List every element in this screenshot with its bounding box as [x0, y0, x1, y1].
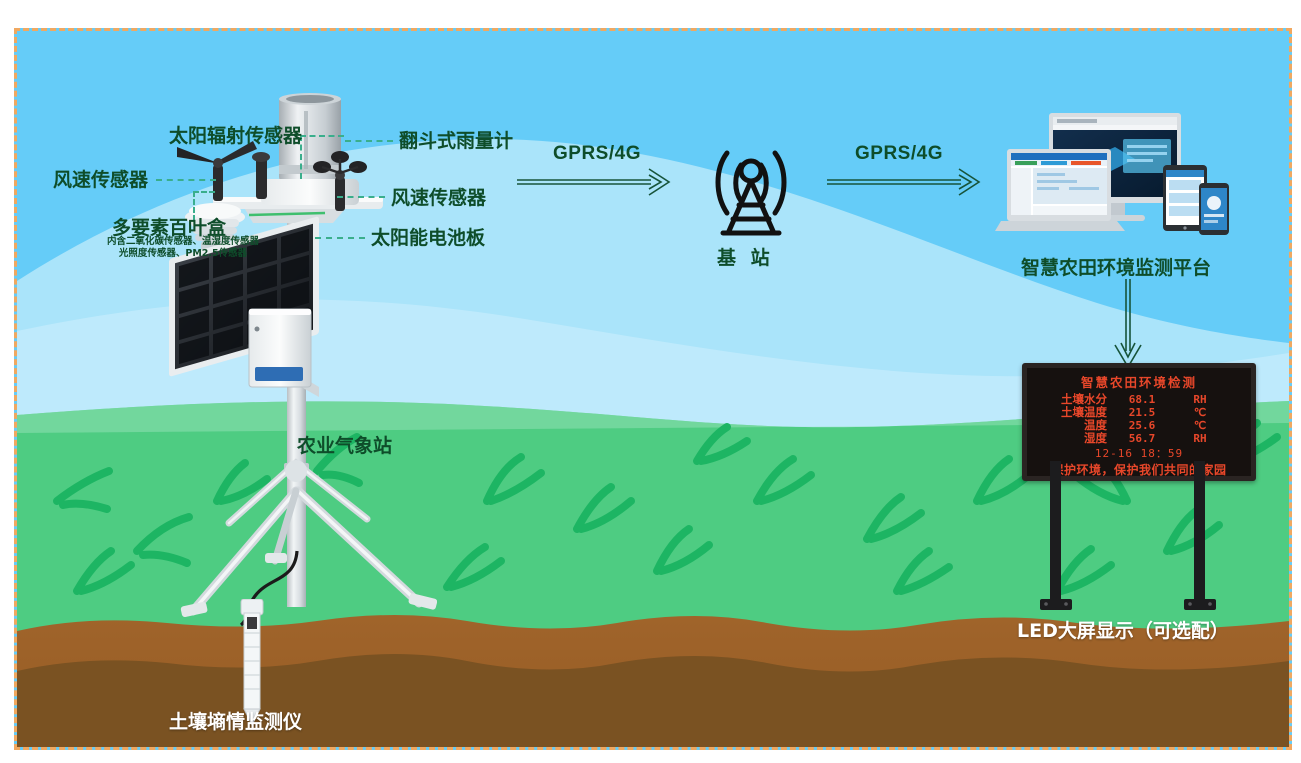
label-led-caption: LED大屏显示（可选配） — [1017, 616, 1229, 643]
link-arrow-down — [1109, 279, 1155, 371]
link-arrow-right — [827, 159, 997, 199]
label-weather-station: 农业气象站 — [297, 431, 392, 458]
label-solar-panel: 太阳能电池板 — [371, 223, 485, 250]
label-solar-radiation-sensor: 太阳辐射传感器 — [169, 121, 302, 148]
label-shelter-note-1: 内含二氧化碳传感器、温湿度传感器 — [57, 236, 309, 248]
label-wind-speed-sensor-left: 风速传感器 — [53, 165, 148, 192]
agro-weather-station — [157, 91, 437, 651]
tripod — [180, 460, 437, 618]
leader-rain-gauge — [345, 140, 393, 142]
led-row: 温度 25.6 ℃ — [1033, 419, 1245, 432]
led-title: 智慧农田环境检测 — [1033, 372, 1245, 391]
leader-wind-right — [337, 196, 385, 198]
smartphone — [1199, 183, 1229, 235]
label-platform: 智慧农田环境监测平台 — [1021, 253, 1211, 280]
diagram-canvas: 太阳辐射传感器 翻斗式雨量计 风速传感器 风速传感器 多要素百叶盒 内含二氧化碳… — [14, 28, 1292, 750]
leader-solar-panel — [315, 237, 365, 239]
label-wind-speed-sensor-right: 风速传感器 — [391, 183, 486, 210]
leader-wind-left — [156, 179, 216, 181]
led-row-name: 湿度 — [1033, 432, 1107, 445]
leader-shelter-h — [193, 191, 215, 193]
led-row-unit: RH — [1177, 393, 1223, 406]
led-row-value: 68.1 — [1107, 393, 1177, 406]
label-shelter-note-2: 光照度传感器、PM2.5传感器 — [57, 248, 309, 260]
led-timestamp: 12-16 18：59 — [1033, 445, 1245, 461]
leader-solar-radiation — [300, 135, 344, 137]
link-label-gprs-left: GPRS/4G — [553, 143, 641, 165]
laptop — [995, 149, 1125, 231]
wind-vane-sensor — [177, 141, 257, 201]
led-row: 土壤温度 21.5 ℃ — [1033, 406, 1245, 419]
platform-devices — [995, 111, 1235, 251]
led-row-unit: ℃ — [1177, 406, 1223, 419]
base-station-icon — [693, 141, 809, 241]
link-arrow-left — [517, 159, 687, 199]
led-row-value: 25.6 — [1107, 419, 1177, 432]
controller-box — [249, 309, 311, 387]
label-soil-moisture-monitor: 土壤墒情监测仪 — [169, 707, 302, 734]
label-tipping-bucket-rain-gauge: 翻斗式雨量计 — [399, 126, 513, 153]
led-row-unit: RH — [1177, 432, 1223, 445]
led-row: 湿度 56.7 RH — [1033, 432, 1245, 445]
led-row-value: 21.5 — [1107, 406, 1177, 419]
led-support-posts — [1022, 461, 1234, 621]
link-label-gprs-right: GPRS/4G — [855, 143, 943, 165]
led-row-value: 56.7 — [1107, 432, 1177, 445]
led-row-unit: ℃ — [1177, 419, 1223, 432]
label-base-station: 基 站 — [717, 243, 774, 270]
